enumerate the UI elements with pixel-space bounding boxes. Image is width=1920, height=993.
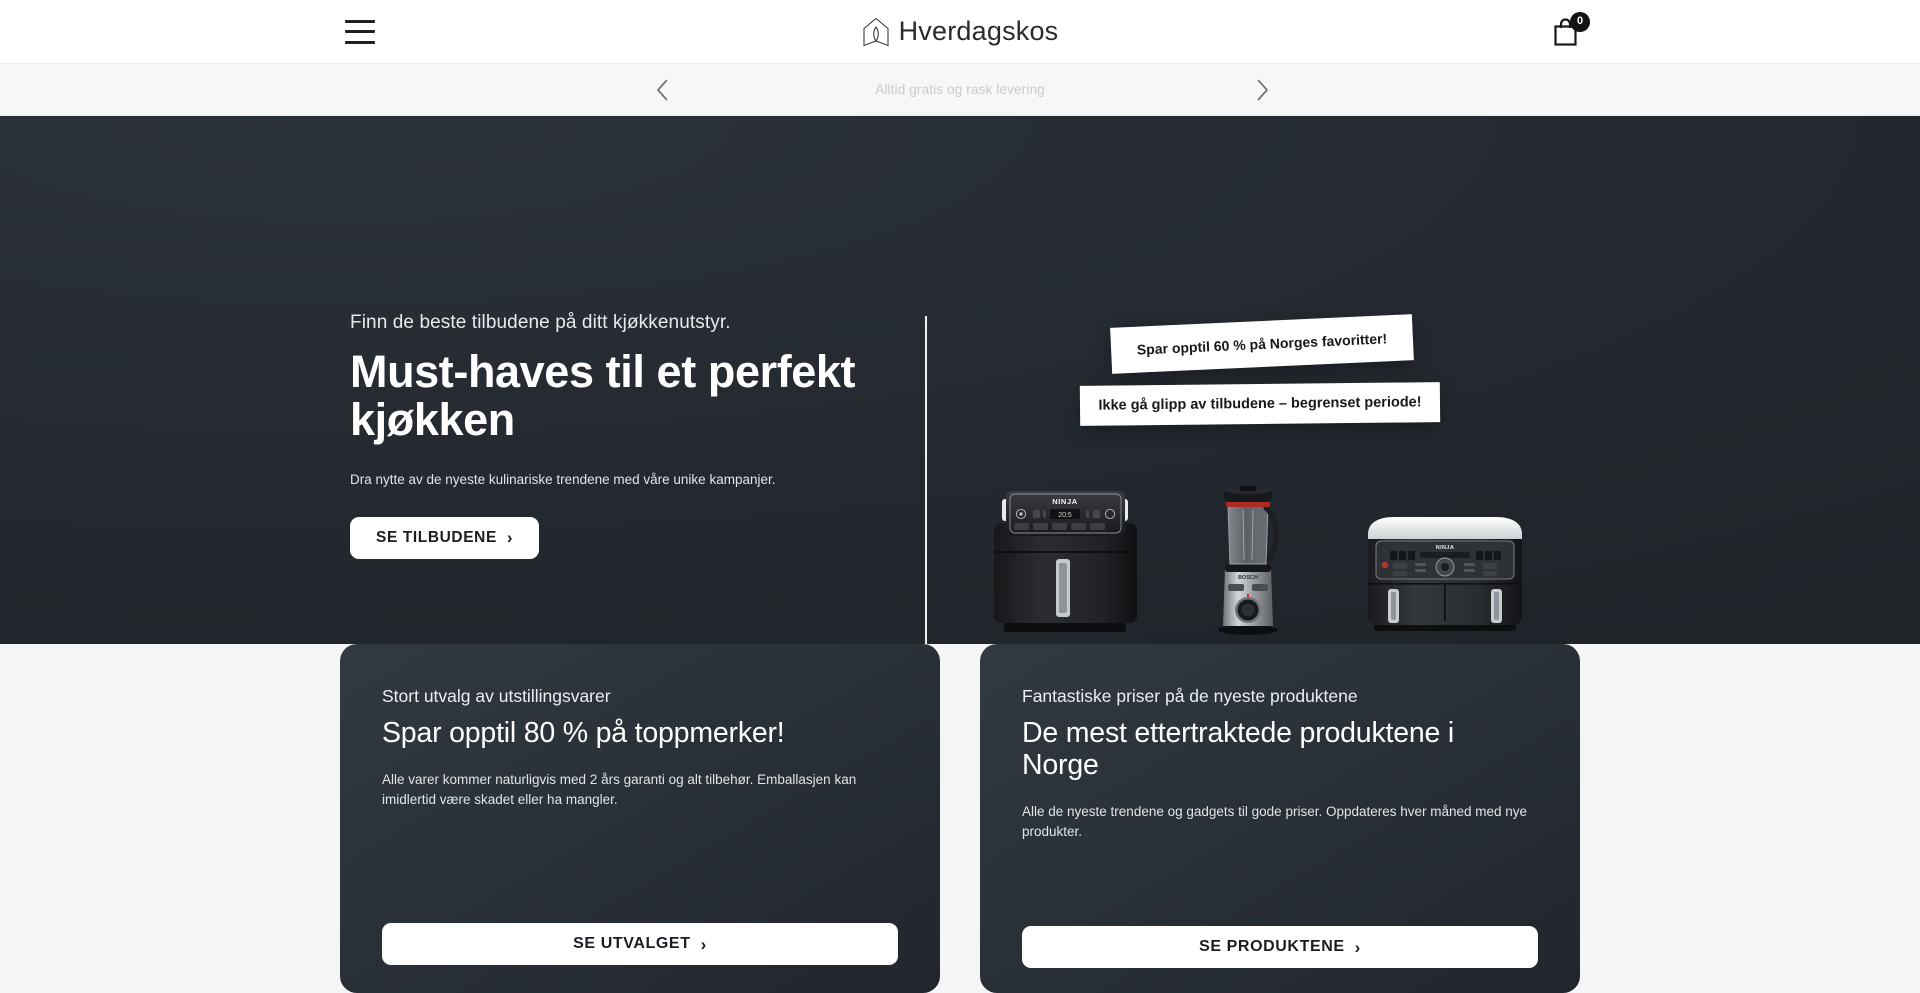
chevron-right-icon: › bbox=[1355, 939, 1361, 956]
hero-banner: Finn de beste tilbudene på ditt kjøkkenu… bbox=[0, 116, 1920, 644]
hero-badge-discount-text: Spar opptil 60 % på Norges favoritter! bbox=[1137, 330, 1388, 357]
site-header: Hverdagskos 0 bbox=[0, 0, 1920, 64]
hamburger-menu-icon[interactable] bbox=[345, 20, 375, 44]
hamburger-line bbox=[345, 30, 375, 33]
hero-badge-urgency-text: Ikke gå glipp av tilbudene – begrenset p… bbox=[1098, 394, 1421, 413]
svg-text:BOSCH: BOSCH bbox=[1238, 575, 1258, 581]
promo-card-eyebrow: Stort utvalg av utstillingsvarer bbox=[382, 686, 898, 707]
hero-product-group: NINJA 20:5 bbox=[960, 446, 1580, 636]
hamburger-line bbox=[345, 20, 375, 23]
promo-card-body: Alle de nyeste trendene og gadgets til g… bbox=[1022, 802, 1538, 843]
hero-copy: Finn de beste tilbudene på ditt kjøkkenu… bbox=[350, 312, 895, 559]
promo-card-outlet[interactable]: Stort utvalg av utstillingsvarer Spar op… bbox=[340, 644, 940, 993]
chevron-right-icon: › bbox=[701, 936, 707, 953]
ninja-air-fryer-dual-image: NINJA bbox=[1360, 501, 1530, 636]
promo-card-body: Alle varer kommer naturligvis med 2 års … bbox=[382, 770, 898, 811]
promo-card-cta-label: SE UTVALGET bbox=[573, 935, 690, 953]
hero-title: Must-haves til et perfekt kjøkken bbox=[350, 348, 895, 444]
hero-badge-discount: Spar opptil 60 % på Norges favoritter! bbox=[1110, 314, 1414, 374]
promo-card-cta-wrap: SE PRODUKTENE › bbox=[1022, 926, 1538, 968]
cart-count-badge: 0 bbox=[1570, 12, 1590, 32]
promo-card-cta-button-utvalget[interactable]: SE UTVALGET › bbox=[382, 923, 898, 965]
house-arch-logo-icon bbox=[862, 17, 890, 47]
promo-card-cta-wrap: SE UTVALGET › bbox=[382, 923, 898, 965]
chevron-right-icon: › bbox=[507, 529, 513, 546]
svg-text:NINJA: NINJA bbox=[1052, 497, 1078, 506]
ninja-air-fryer-single-image: NINJA 20:5 bbox=[988, 471, 1143, 636]
chevron-left-icon[interactable] bbox=[647, 75, 677, 105]
promo-card-row: Stort utvalg av utstillingsvarer Spar op… bbox=[0, 644, 1920, 993]
brand-name: Hverdagskos bbox=[899, 16, 1059, 47]
hero-badge-urgency: Ikke gå glipp av tilbudene – begrenset p… bbox=[1080, 382, 1440, 426]
hero-cta-button[interactable]: SE TILBUDENE › bbox=[350, 517, 539, 559]
cart-button[interactable]: 0 bbox=[1550, 12, 1590, 52]
promo-card-title: Spar opptil 80 % på toppmerker! bbox=[382, 718, 898, 750]
brand-logo-link[interactable]: Hverdagskos bbox=[862, 16, 1059, 47]
announcement-text: Alltid gratis og rask levering bbox=[875, 82, 1045, 97]
chevron-right-icon[interactable] bbox=[1247, 75, 1277, 105]
promo-card-eyebrow: Fantastiske priser på de nyeste produkte… bbox=[1022, 686, 1538, 707]
promo-card-cta-label: SE PRODUKTENE bbox=[1199, 938, 1345, 956]
svg-text:NINJA: NINJA bbox=[1436, 545, 1455, 551]
promo-card-title: De mest ettertraktede produktene i Norge bbox=[1022, 718, 1538, 782]
promo-card-cta-button-produktene[interactable]: SE PRODUKTENE › bbox=[1022, 926, 1538, 968]
hero-eyebrow: Finn de beste tilbudene på ditt kjøkkenu… bbox=[350, 312, 895, 334]
hero-vertical-divider bbox=[925, 316, 927, 644]
bosch-blender-image: BOSCH bbox=[1203, 476, 1293, 636]
hero-cta-label: SE TILBUDENE bbox=[376, 529, 497, 547]
announcement-bar: Alltid gratis og rask levering bbox=[0, 64, 1920, 116]
svg-text:20:5: 20:5 bbox=[1058, 512, 1072, 519]
promo-card-newest[interactable]: Fantastiske priser på de nyeste produkte… bbox=[980, 644, 1580, 993]
hamburger-line bbox=[345, 41, 375, 44]
hero-subtitle: Dra nytte av de nyeste kulinariske trend… bbox=[350, 470, 895, 490]
